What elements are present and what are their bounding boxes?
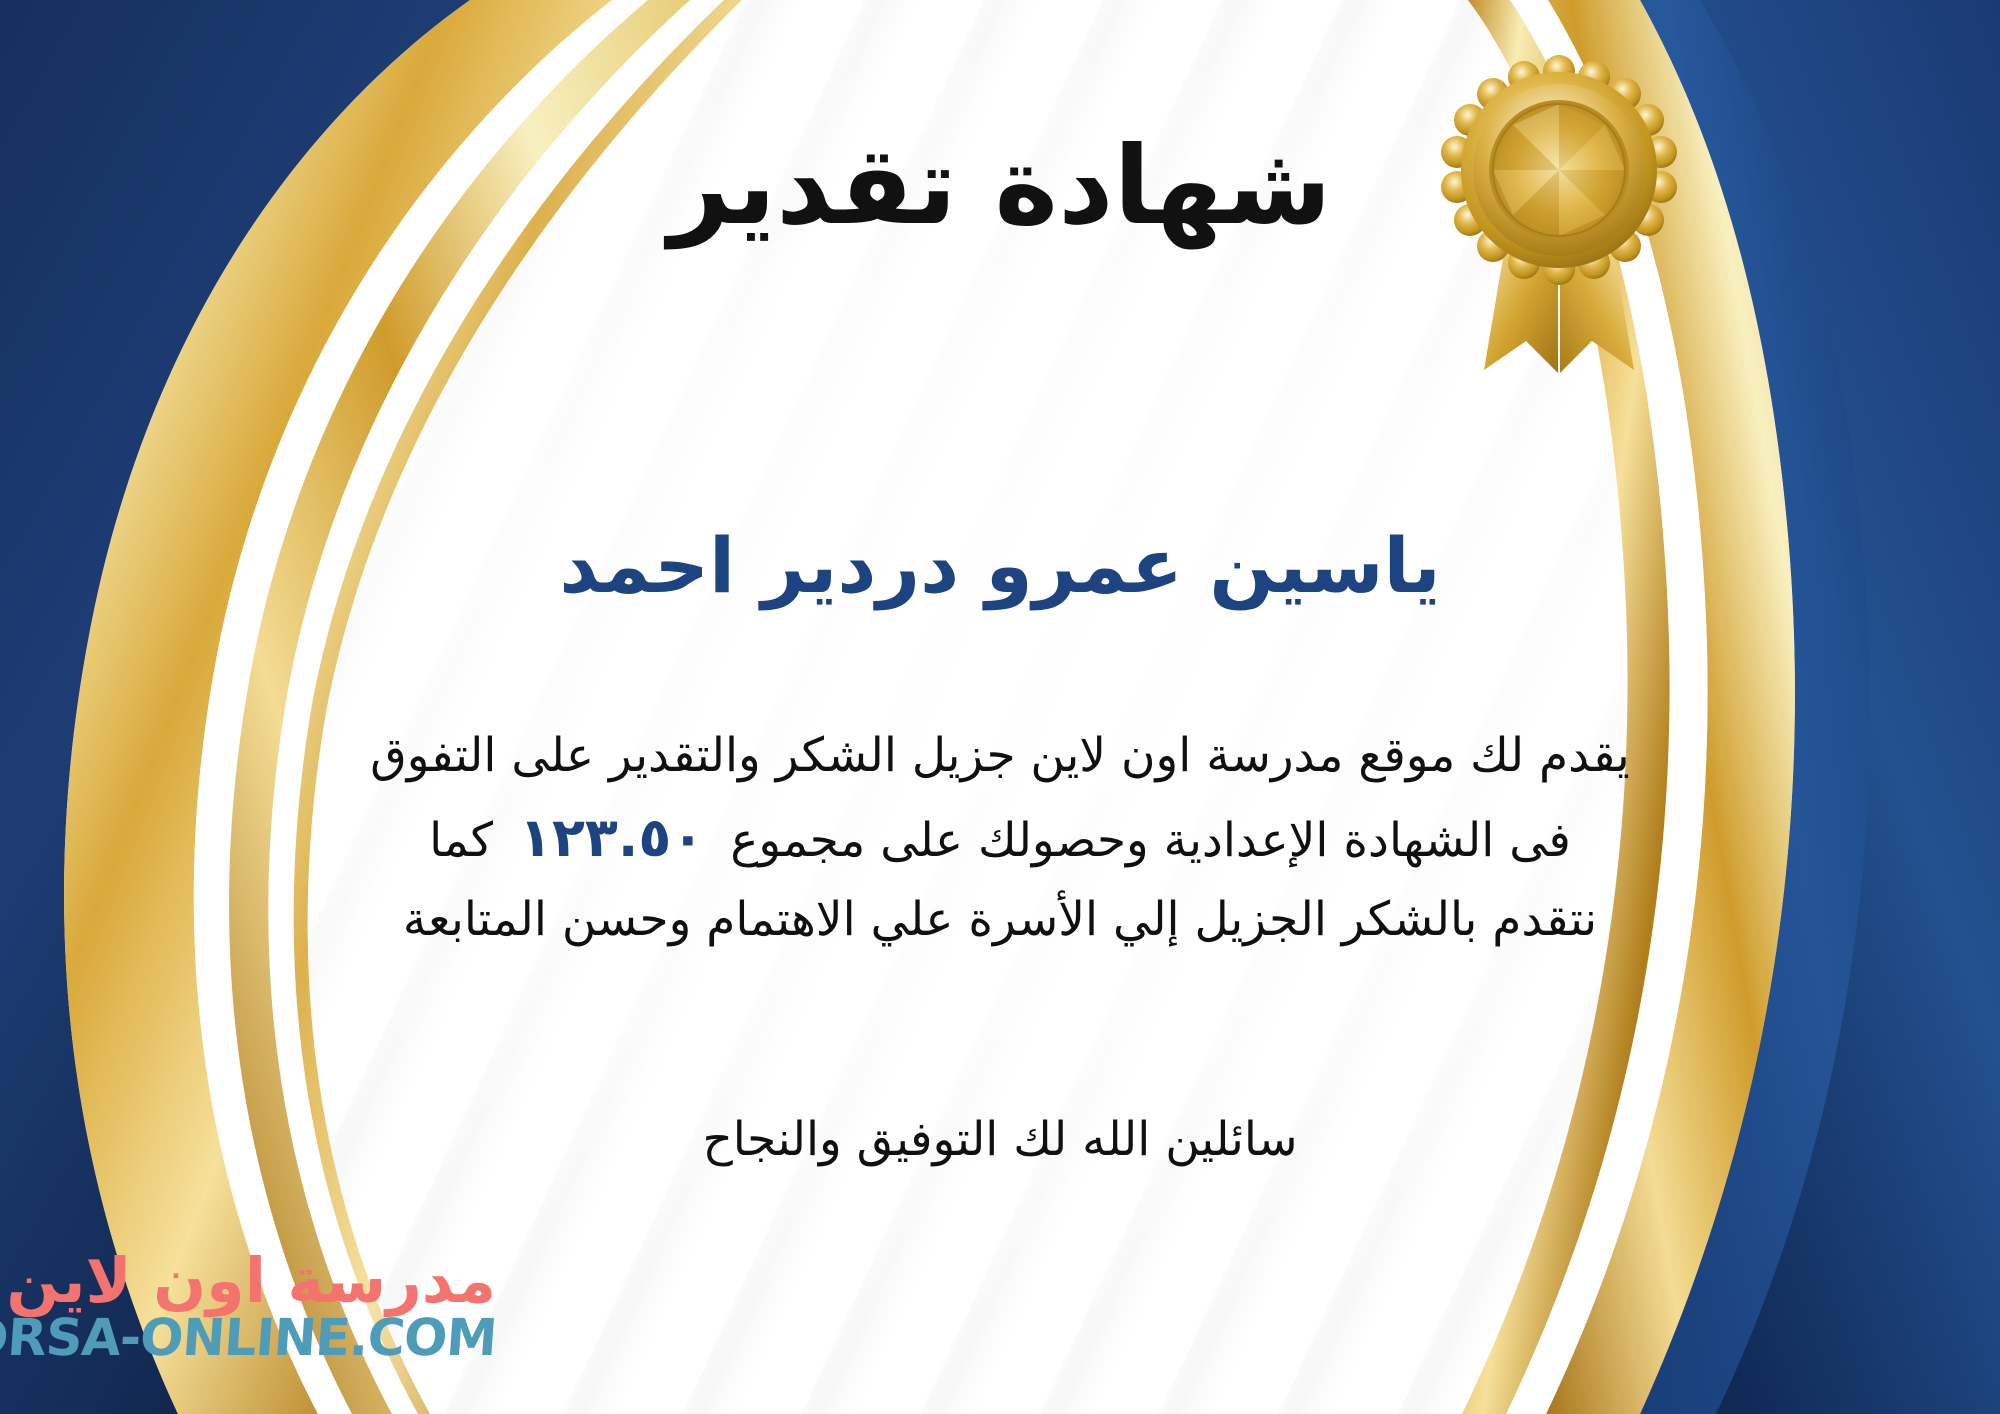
certificate-title: شهادة تقدير	[0, 128, 2000, 247]
certificate-body-text: يقدم لك موقع مدرسة اون لاين جزيل الشكر و…	[60, 718, 1940, 958]
closing-wishes-line: سائلين الله لك التوفيق والنجاح	[0, 1105, 2000, 1176]
student-name: ياسين عمرو دردير احمد	[0, 522, 2000, 609]
body-line-2-suffix: كما	[429, 813, 493, 868]
certificate-content: شهادة تقدير ياسين عمرو دردير احمد يقدم ل…	[0, 0, 2000, 1414]
brand-logo[interactable]: مدرسة اون لاين MADRSA-ONLINE.COM	[30, 1222, 500, 1392]
brand-logo-text: مدرسة اون لاين MADRSA-ONLINE.COM	[0, 1249, 500, 1366]
body-line-3: نتقدم بالشكر الجزيل إلي الأسرة علي الاهت…	[60, 882, 1940, 958]
brand-name-arabic: مدرسة اون لاين	[0, 1249, 496, 1312]
brand-website-url: MADRSA-ONLINE.COM	[0, 1312, 498, 1366]
body-line-2: فى الشهادة الإعدادية وحصولك على مجموع١٢٣…	[60, 794, 1940, 881]
body-line-1: يقدم لك موقع مدرسة اون لاين جزيل الشكر و…	[60, 718, 1940, 794]
grade-total-value: ١٢٣.٥٠	[493, 806, 730, 869]
certificate-page: شهادة تقدير ياسين عمرو دردير احمد يقدم ل…	[0, 0, 2000, 1414]
body-line-2-prefix: فى الشهادة الإعدادية وحصولك على مجموع	[730, 813, 1571, 868]
